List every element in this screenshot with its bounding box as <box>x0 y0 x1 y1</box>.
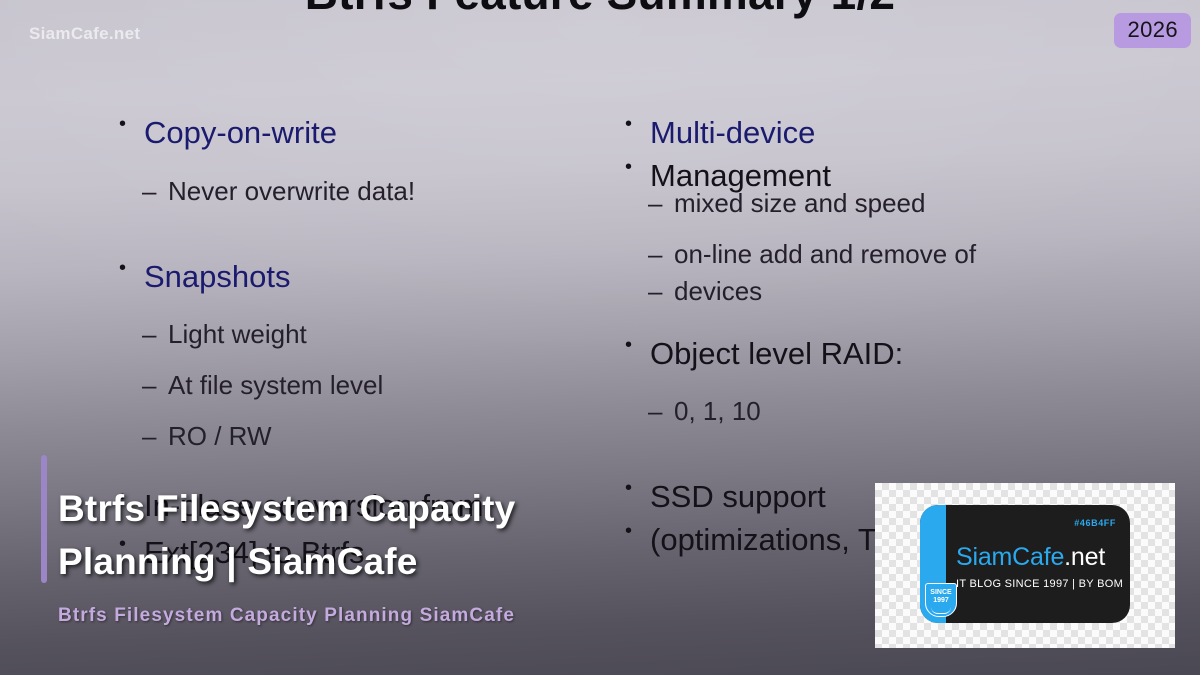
since-1997-shield-icon: SINCE 1997 <box>925 583 957 617</box>
spacer <box>112 455 612 485</box>
siamcafe-logo-watermark: #46B4FF SiamCafe.net IT BLOG SINCE 1997 … <box>875 483 1175 648</box>
overlay-title-line-1: Btrfs Filesystem Capacity <box>58 483 658 536</box>
spacer <box>112 353 612 367</box>
shield-arc <box>931 607 951 614</box>
subbullet-never-overwrite: Never overwrite data! <box>112 173 612 210</box>
logo-brand-tld: .net <box>1064 543 1105 571</box>
bullet-snapshots-label: Snapshots <box>144 259 291 294</box>
overlay-title: Btrfs Filesystem Capacity Planning | Sia… <box>58 483 658 588</box>
spacer <box>618 379 1088 393</box>
bullet-multi-device-label: Multi-device <box>650 115 815 150</box>
subbullet-at-file-system-level: At file system level <box>112 367 612 404</box>
spacer <box>112 302 612 316</box>
bullet-snapshots: Snapshots <box>112 256 612 299</box>
year-badge: 2026 <box>1114 13 1191 48</box>
logo-brand-name: SiamCafe.net <box>956 543 1105 572</box>
siamcafe-logo-card: #46B4FF SiamCafe.net IT BLOG SINCE 1997 … <box>920 505 1130 623</box>
bullet-ssd-support-label: SSD support <box>650 479 826 514</box>
bullet-multi-device: Multi-device <box>618 112 1088 155</box>
top-left-watermark: SiamCafe.net <box>29 24 140 44</box>
spacer <box>618 430 1088 476</box>
subbullet-raid-levels: 0, 1, 10 <box>618 393 1088 430</box>
slide-title: Btrfs Feature Summary 1/2 <box>0 0 1200 20</box>
left-content-column: Copy-on-write Never overwrite data! Snap… <box>112 112 612 532</box>
spacer <box>112 159 612 173</box>
bullet-copy-on-write: Copy-on-write <box>112 112 612 155</box>
spacer <box>112 404 612 418</box>
slide-canvas: Btrfs Feature Summary 1/2 SiamCafe.net 2… <box>0 0 1200 675</box>
logo-tagline: IT BLOG SINCE 1997 | BY BOM <box>956 578 1123 590</box>
shield-line-1: SINCE <box>930 589 951 596</box>
logo-brand-main: SiamCafe <box>956 543 1064 571</box>
spacer <box>112 210 612 256</box>
bullet-copy-on-write-label: Copy-on-write <box>144 115 337 150</box>
subbullet-devices-label: devices <box>674 273 762 310</box>
subbullet-ro-rw: RO / RW <box>112 418 612 455</box>
overlay-accent-bar <box>41 455 47 583</box>
logo-hex-code: #46B4FF <box>1074 518 1116 528</box>
subbullet-mixed-size-and-speed: mixed size and speed <box>618 185 1088 222</box>
bullet-object-level-raid: Object level RAID: <box>618 333 1088 376</box>
subbullet-light-weight: Light weight <box>112 316 612 353</box>
right-content-column: Multi-device Management mixed size and s… <box>618 112 1088 519</box>
shield-line-2: 1997 <box>933 597 949 604</box>
spacer <box>618 222 1088 236</box>
bullet-object-level-raid-label: Object level RAID: <box>650 336 903 371</box>
overlay-subtitle: Btrfs Filesystem Capacity Planning SiamC… <box>58 605 515 627</box>
overlay-title-line-2: Planning | SiamCafe <box>58 536 658 589</box>
subbullet-online-add-remove: on-line add and remove of <box>618 236 1088 273</box>
